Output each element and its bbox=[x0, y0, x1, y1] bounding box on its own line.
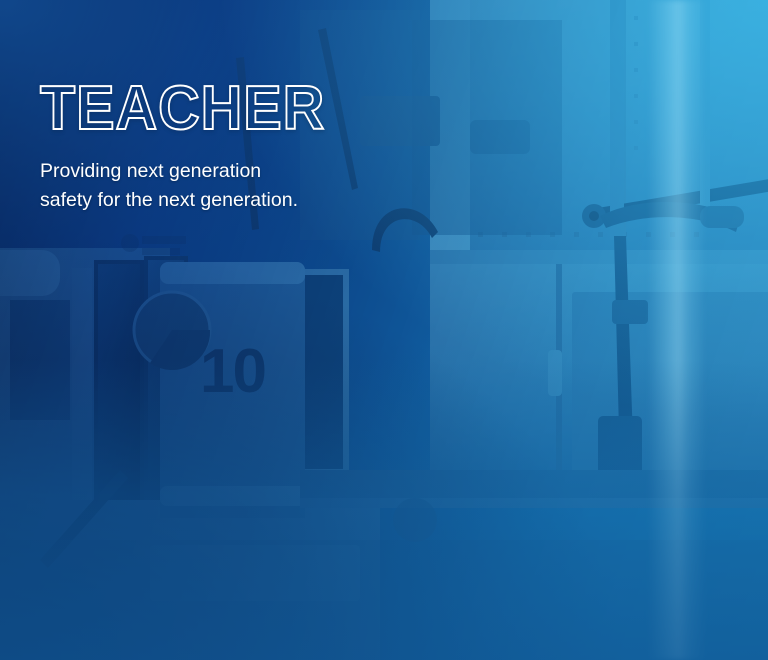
page-title: TEACHER bbox=[40, 84, 325, 135]
bottom-fade-overlay bbox=[0, 360, 768, 660]
hero-banner: 10 bbox=[0, 0, 768, 660]
hero-subheadline: Providing next generation safety for the… bbox=[40, 157, 347, 215]
hero-copy: TEACHER Providing next generation safety… bbox=[40, 84, 347, 215]
